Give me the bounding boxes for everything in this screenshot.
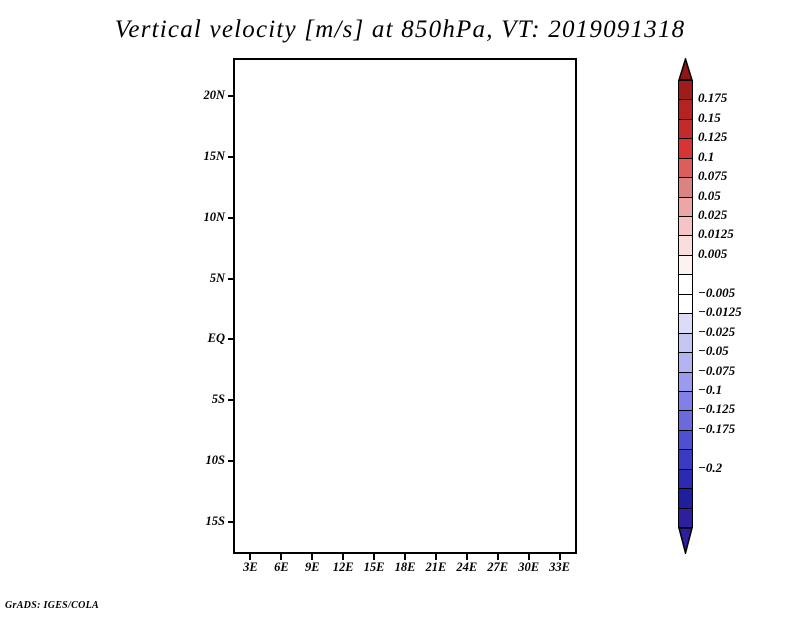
- page-title: Vertical velocity [m/s] at 850hPa, VT: 2…: [0, 16, 800, 44]
- colorbar-cell: [678, 430, 693, 451]
- colorbar-cell: [678, 469, 693, 490]
- colorbar-tick-label: −0.2: [698, 460, 722, 476]
- y-tick-label: 15S: [185, 514, 225, 529]
- x-tick-mark: [311, 553, 313, 560]
- grads-credit: GrADS: IGES/COLA: [5, 600, 99, 611]
- x-tick-mark: [280, 553, 282, 560]
- map-plot-area: [233, 58, 577, 554]
- colorbar-tick-label: 0.125: [698, 129, 727, 145]
- colorbar-cell: [678, 197, 693, 218]
- y-tick-label: EQ: [185, 331, 225, 346]
- x-tick-mark: [435, 553, 437, 560]
- colorbar-cell: [678, 410, 693, 431]
- colorbar-tick-label: −0.1: [698, 382, 722, 398]
- x-tick-mark: [528, 553, 530, 560]
- y-tick-mark: [228, 217, 235, 219]
- colorbar-cell: [678, 391, 693, 412]
- colorbar-cell: [678, 449, 693, 470]
- x-tick-mark: [497, 553, 499, 560]
- colorbar-cell: [678, 294, 693, 315]
- y-tick-label: 15N: [185, 149, 225, 164]
- colorbar-bottom-arrow: [678, 527, 693, 549]
- colorbar-cell: [678, 352, 693, 373]
- x-tick-mark: [249, 553, 251, 560]
- colorbar-tick-label: 0.075: [698, 168, 727, 184]
- y-tick-label: 10N: [185, 210, 225, 225]
- colorbar-top-arrow: [678, 58, 693, 80]
- x-tick-mark: [404, 553, 406, 560]
- colorbar-cell: [678, 372, 693, 393]
- colorbar-tick-label: −0.025: [698, 324, 735, 340]
- colorbar-tick-label: 0.175: [698, 90, 727, 106]
- colorbar-tick-label: −0.075: [698, 363, 735, 379]
- colorbar-tick-label: 0.0125: [698, 226, 734, 242]
- y-tick-label: 5N: [185, 271, 225, 286]
- y-tick-mark: [228, 95, 235, 97]
- colorbar-cell: [678, 488, 693, 509]
- colorbar-tick-label: 0.15: [698, 110, 721, 126]
- y-tick-mark: [228, 156, 235, 158]
- colorbar-cell: [678, 138, 693, 159]
- colorbar-tick-label: −0.05: [698, 343, 729, 359]
- x-tick-mark: [373, 553, 375, 560]
- colorbar-tick-label: 0.025: [698, 207, 727, 223]
- x-tick-mark: [342, 553, 344, 560]
- country-borders-overlay: [235, 60, 575, 552]
- colorbar-cell: [678, 158, 693, 179]
- colorbar-tick-label: 0.05: [698, 188, 721, 204]
- colorbar-cell: [678, 235, 693, 256]
- x-tick-mark: [466, 553, 468, 560]
- colorbar-tick-label: −0.005: [698, 285, 735, 301]
- colorbar-tick-label: −0.0125: [698, 304, 742, 320]
- y-tick-mark: [228, 521, 235, 523]
- colorbar-tick-label: 0.005: [698, 246, 727, 262]
- y-tick-label: 5S: [185, 392, 225, 407]
- colorbar-cell: [678, 177, 693, 198]
- y-tick-label: 10S: [185, 453, 225, 468]
- x-tick-mark: [559, 553, 561, 560]
- colorbar-tick-label: 0.1: [698, 149, 714, 165]
- x-tick-label: 33E: [540, 560, 580, 575]
- colorbar-cell: [678, 255, 693, 276]
- colorbar-cell: [678, 216, 693, 237]
- colorbar-cell: [678, 508, 693, 529]
- colorbar-tick-label: −0.125: [698, 401, 735, 417]
- y-tick-label: 20N: [185, 88, 225, 103]
- colorbar-cell: [678, 313, 693, 334]
- y-tick-mark: [228, 399, 235, 401]
- colorbar: [676, 58, 696, 560]
- y-tick-mark: [228, 278, 235, 280]
- y-tick-mark: [228, 460, 235, 462]
- colorbar-cell: [678, 274, 693, 295]
- colorbar-tick-label: −0.175: [698, 421, 735, 437]
- y-tick-mark: [228, 338, 235, 340]
- colorbar-cell: [678, 99, 693, 120]
- colorbar-cell: [678, 333, 693, 354]
- colorbar-cell: [678, 119, 693, 140]
- colorbar-cell: [678, 80, 693, 101]
